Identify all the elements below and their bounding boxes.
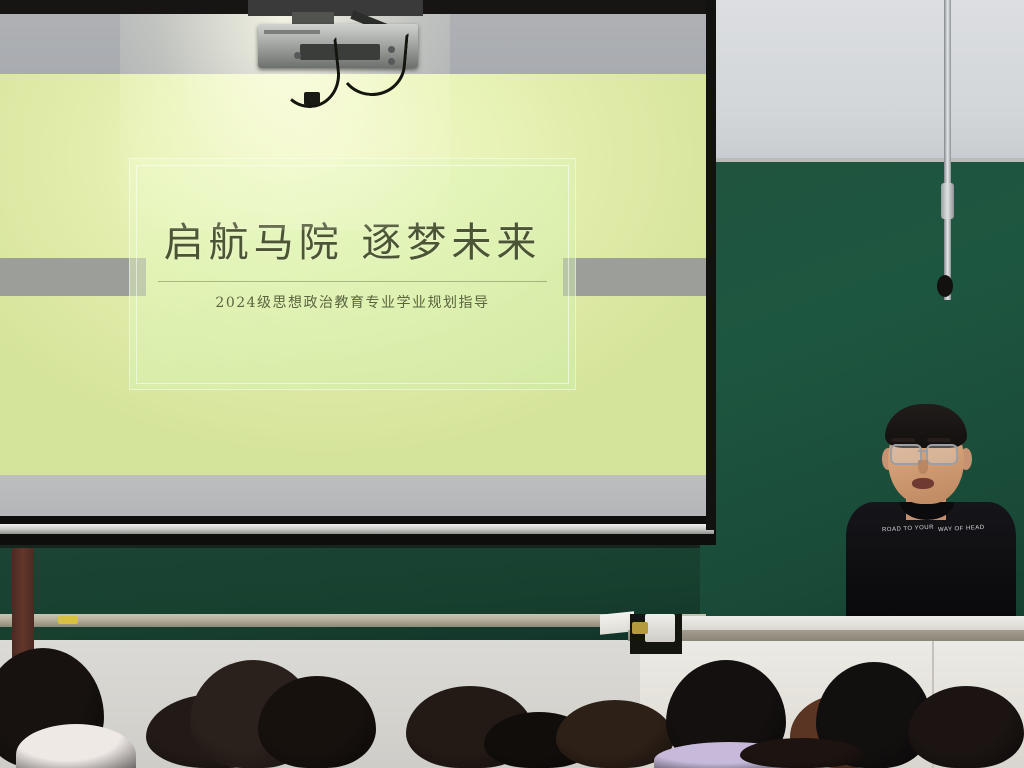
glasses-icon-right — [926, 444, 958, 465]
ceiling-rail — [248, 0, 423, 16]
screen-weight-bar — [0, 524, 714, 534]
junction-box-wire — [632, 622, 648, 634]
pull-rod-hook-icon — [937, 275, 953, 297]
audience-head — [740, 738, 864, 768]
junction-box-face — [645, 614, 675, 642]
lectern-top — [628, 616, 1024, 630]
slide-band-left — [0, 258, 146, 296]
slide-card — [129, 158, 576, 390]
slide-band-bottom — [0, 475, 712, 516]
screen-right-edge — [706, 0, 716, 530]
lectern-edge — [628, 630, 1024, 641]
slide-subtitle: 2024级思想政治教育专业学业规划指导 — [129, 292, 576, 312]
presenter: ROAD TO YOUR WAY OF HEAD — [838, 398, 1024, 632]
screen-pull-rod[interactable] — [944, 0, 951, 300]
presenter-brow-left — [891, 438, 915, 442]
projector-vent — [264, 30, 320, 34]
classroom-photo: 启航马院 逐梦未来 2024级思想政治教育专业学业规划指导 ROAD T — [0, 0, 1024, 768]
slide-divider — [158, 281, 547, 282]
presenter-nose — [918, 460, 928, 474]
presenter-brow-right — [927, 438, 951, 442]
presenter-shirt — [846, 502, 1016, 632]
presenter-mouth — [912, 478, 934, 489]
chalk-piece — [58, 616, 78, 624]
slide-band-right — [563, 258, 712, 296]
slide-title: 启航马院 逐梦未来 — [129, 210, 576, 268]
upper-wall-right — [700, 0, 1024, 163]
cable-plug — [304, 92, 320, 105]
pull-rod-joint — [941, 183, 954, 219]
glasses-bridge — [918, 450, 926, 452]
